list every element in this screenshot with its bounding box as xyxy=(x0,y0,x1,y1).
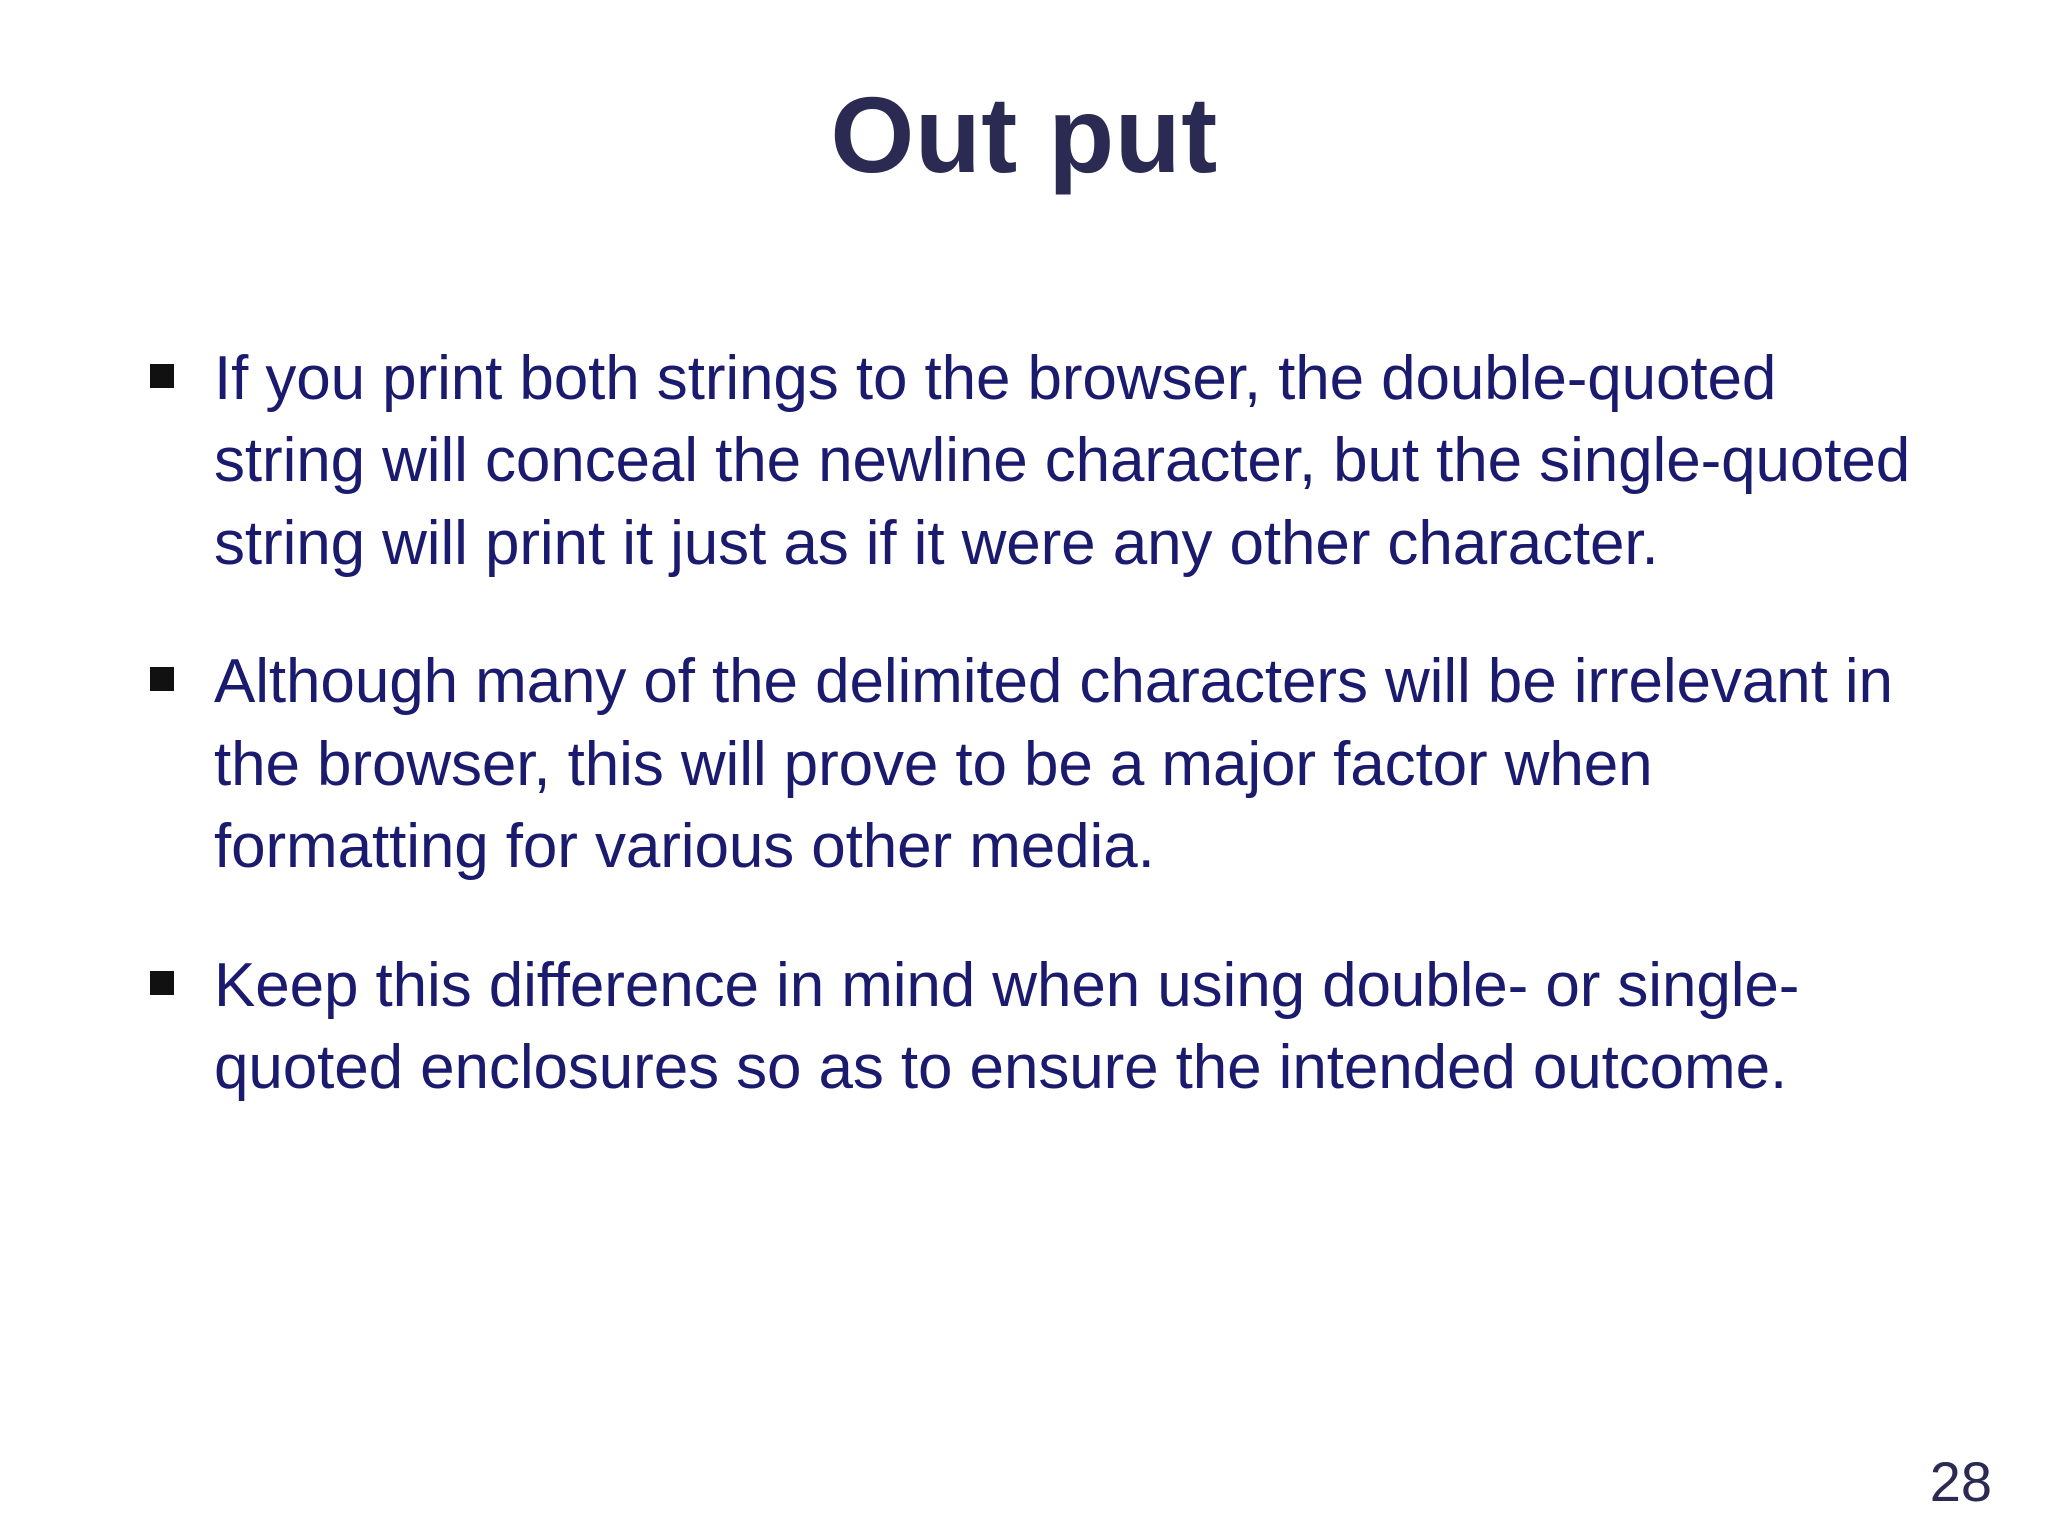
list-item: Although many of the delimited character… xyxy=(150,641,1940,888)
square-bullet-icon xyxy=(150,667,174,691)
page-title: Out put xyxy=(0,78,2048,191)
list-item: Keep this difference in mind when using … xyxy=(150,945,1940,1110)
page-number: 28 xyxy=(1930,1454,1992,1510)
square-bullet-icon xyxy=(150,971,174,995)
list-item-label: Keep this difference in mind when using … xyxy=(214,945,1914,1110)
slide-canvas: Out put If you print both strings to the… xyxy=(0,0,2048,1536)
square-bullet-icon xyxy=(150,364,174,388)
list-item-label: Although many of the delimited character… xyxy=(214,641,1914,888)
list-item: If you print both strings to the browser… xyxy=(150,338,1940,585)
list-item-label: If you print both strings to the browser… xyxy=(214,338,1914,585)
bullet-list: If you print both strings to the browser… xyxy=(150,338,1940,1110)
